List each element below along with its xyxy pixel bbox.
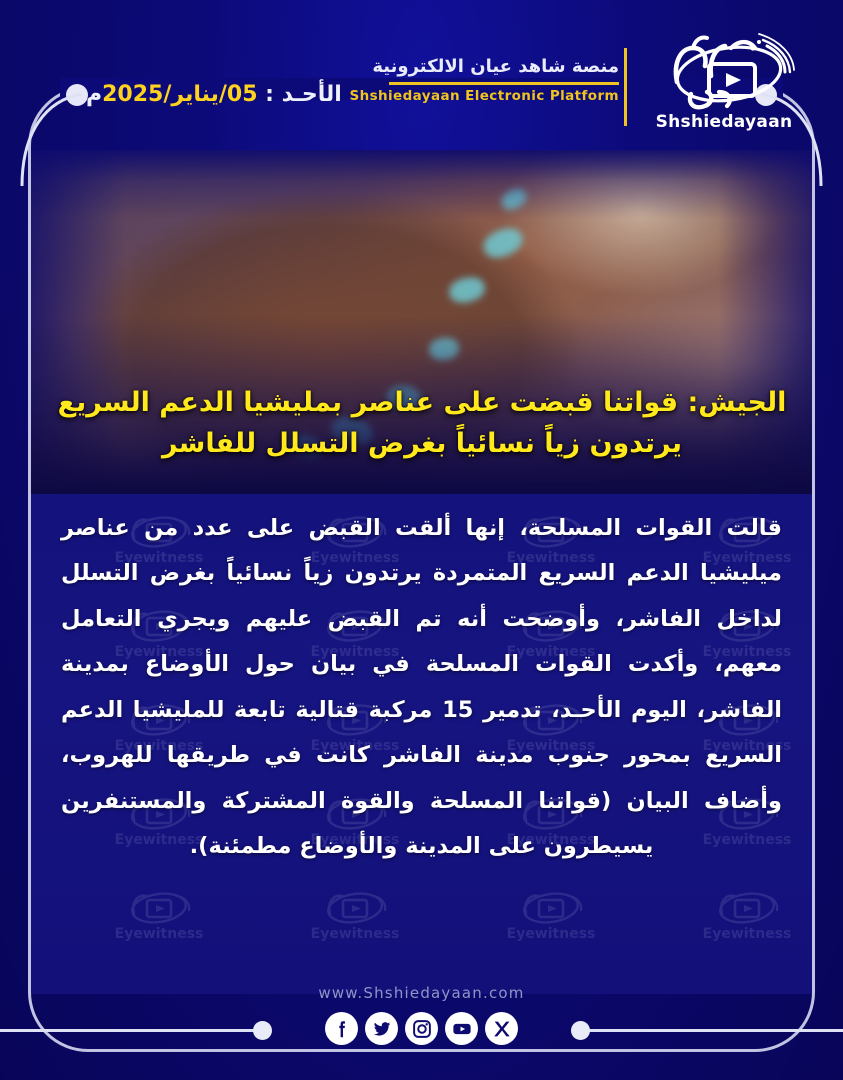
headline: الجيش: قواتنا قبضت على عناصر بمليشيا الد…	[46, 382, 798, 464]
decorative-curve-right	[731, 78, 823, 188]
youtube-icon[interactable]	[445, 1012, 478, 1045]
social-links	[0, 1012, 843, 1045]
facebook-icon[interactable]	[325, 1012, 358, 1045]
date-highlight: 05/يناير/2025	[102, 82, 257, 107]
article-body-text: قالت القوات المسلحة، إنها ألقت القبض على…	[31, 494, 812, 870]
brand-name-english: Shshiedayaan Electronic Platform	[349, 88, 619, 104]
news-card-poster: الجيش: قواتنا قبضت على عناصر بمليشيا الد…	[0, 0, 843, 1080]
website-url[interactable]: www.Shshiedayaan.com	[0, 984, 843, 1002]
header-vertical-divider	[624, 48, 627, 126]
instagram-icon[interactable]	[405, 1012, 438, 1045]
brand-block: منصة شاهد عيان الالكترونية Shshiedayaan …	[335, 55, 619, 104]
decorative-curve-left	[20, 78, 112, 188]
x-icon[interactable]	[485, 1012, 518, 1045]
article-body-panel: Eyewitness Eyewitness Eyewitness Eyewitn…	[31, 494, 812, 994]
footer: www.Shshiedayaan.com	[0, 970, 843, 1080]
publication-date: الأحـد : 05/يناير/2025م	[86, 82, 342, 107]
date-prefix: الأحـد :	[258, 82, 342, 107]
brand-name-arabic: منصة شاهد عيان الالكترونية	[349, 55, 619, 78]
header: الأحـد : 05/يناير/2025م منصة شاهد عيان ا…	[0, 0, 843, 150]
twitter-icon[interactable]	[365, 1012, 398, 1045]
brand-divider-rule	[389, 82, 619, 85]
